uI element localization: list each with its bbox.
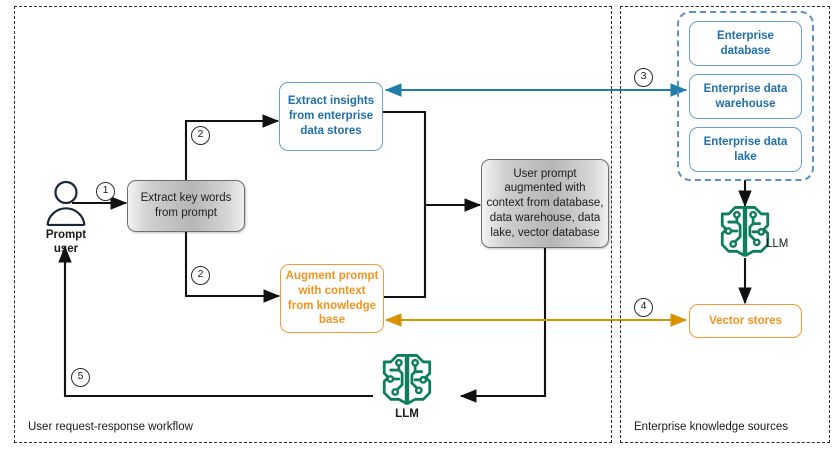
panel-left-label: User request-response workflow [28, 421, 193, 433]
diagram-canvas: User request-response workflow Enterpris… [0, 0, 836, 449]
prompt-user-avatar [42, 180, 90, 226]
llm-brain-circuit-icon [719, 204, 771, 258]
llm-left-label: LLM [377, 408, 437, 422]
node-vector-stores-label: Vector stores [709, 314, 782, 329]
node-augment-prompt[interactable]: Augment prompt with context from knowled… [280, 264, 384, 333]
node-enterprise-data-lake-label: Enterprise data lake [694, 135, 797, 164]
step-badge-3: 3 [634, 68, 653, 87]
node-enterprise-database[interactable]: Enterprise database [689, 21, 802, 66]
panel-right-label: Enterprise knowledge sources [634, 421, 788, 433]
step-badge-4: 4 [634, 298, 653, 317]
node-extract-insights[interactable]: Extract insights from enterprise data st… [279, 82, 383, 151]
step-badge-1: 1 [96, 182, 115, 201]
node-augment-prompt-label: Augment prompt with context from knowled… [285, 269, 379, 328]
node-enterprise-data-warehouse-label: Enterprise data warehouse [694, 82, 797, 111]
llm-brain-circuit-icon [381, 352, 433, 406]
node-enterprise-data-warehouse[interactable]: Enterprise data warehouse [689, 74, 802, 119]
prompt-user-label: Prompt user [26, 229, 106, 257]
node-user-prompt-augmented-label: User prompt augmented with context from … [486, 167, 604, 241]
llm-brain-icon-right-wrap [719, 204, 771, 258]
node-enterprise-database-label: Enterprise database [694, 29, 797, 58]
person-icon [42, 180, 90, 226]
node-extract-key-words-label: Extract key words from prompt [132, 191, 240, 220]
step-badge-2-insights: 2 [191, 126, 210, 145]
node-extract-insights-label: Extract insights from enterprise data st… [284, 94, 378, 138]
node-enterprise-data-lake[interactable]: Enterprise data lake [689, 127, 802, 172]
llm-brain-icon-left-wrap [381, 352, 433, 406]
llm-right-label: LLM [766, 238, 788, 250]
node-extract-key-words[interactable]: Extract key words from prompt [127, 180, 245, 232]
step-badge-2-augment: 2 [191, 266, 210, 285]
node-user-prompt-augmented[interactable]: User prompt augmented with context from … [481, 159, 609, 248]
step-badge-5: 5 [71, 368, 90, 387]
node-vector-stores[interactable]: Vector stores [689, 304, 802, 338]
